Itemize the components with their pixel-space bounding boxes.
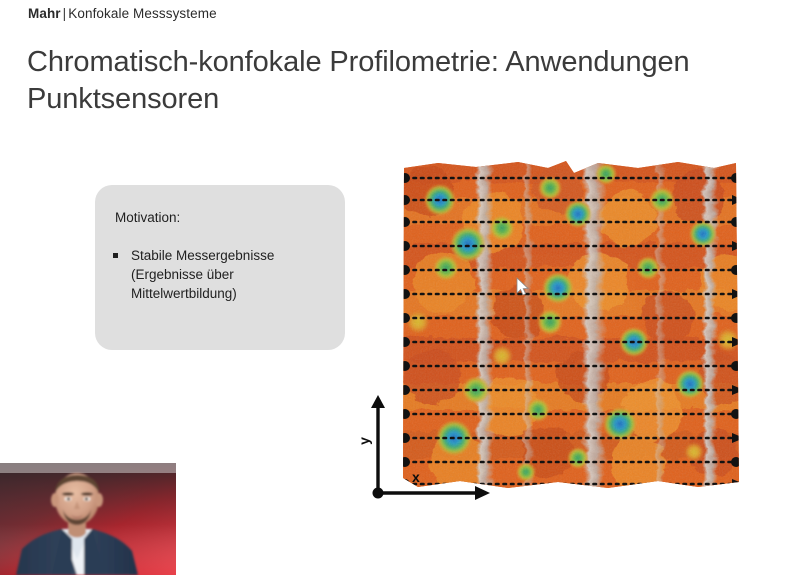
surface-measurement-figure: x y	[360, 140, 780, 540]
axis-y-label: y	[356, 437, 372, 445]
figure-axes: x y	[360, 395, 500, 515]
brand-name: Mahr	[28, 6, 61, 21]
title-line-1: Chromatisch-konfokale Profilometrie: Anw…	[27, 46, 690, 78]
page-title: Chromatisch-konfokale Profilometrie: Anw…	[27, 44, 787, 118]
callout-bullet-list: Stabile Messergebnisse (Ergebnisse über …	[109, 246, 335, 303]
slide-eyebrow: Mahr|Konfokale Messsysteme	[28, 6, 217, 21]
presenter-video-frame	[0, 463, 176, 575]
title-line-2: Punktsensoren	[27, 81, 787, 118]
axes-svg	[360, 395, 500, 515]
presentation-slide-screen: Mahr|Konfokale Messsysteme Chromatisch-k…	[0, 0, 800, 575]
eyebrow-subtitle: Konfokale Messsysteme	[68, 6, 216, 21]
square-bullet-icon	[113, 253, 118, 258]
list-item-label: Stabile Messergebnisse (Ergebnisse über …	[131, 248, 274, 301]
presenter-video-tile[interactable]	[0, 463, 176, 575]
axis-x-label: x	[412, 469, 420, 485]
list-item: Stabile Messergebnisse (Ergebnisse über …	[109, 246, 335, 303]
callout-heading: Motivation:	[115, 210, 180, 225]
motivation-callout: Motivation: Stabile Messergebnisse (Erge…	[95, 185, 345, 350]
